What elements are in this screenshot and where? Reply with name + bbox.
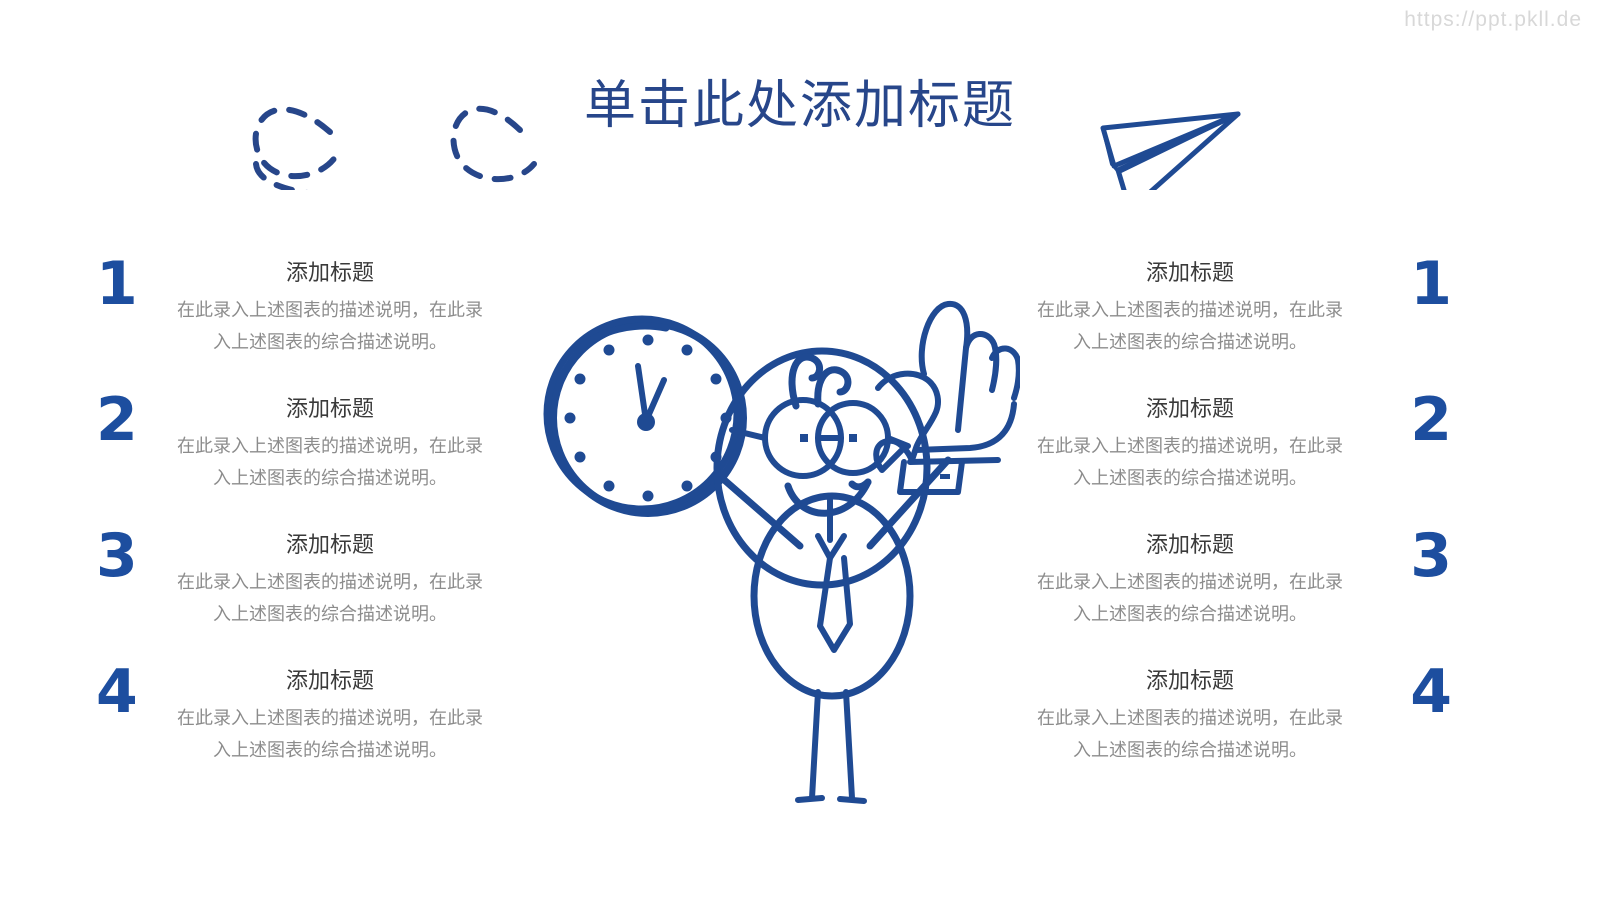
item-body: 在此录入上述图表的描述说明，在此录入上述图表的综合描述说明。 [170, 702, 490, 766]
page-title: 单击此处添加标题 [0, 74, 1600, 138]
necktie-icon [818, 536, 850, 650]
item-number: 4 [96, 662, 138, 722]
wall-clock-icon [547, 319, 743, 513]
item-text-block: 添加标题 在此录入上述图表的描述说明，在此录入上述图表的综合描述说明。 [170, 394, 490, 494]
item-number: 1 [1410, 254, 1452, 314]
item-number: 2 [1410, 390, 1452, 450]
item-heading: 添加标题 [170, 394, 490, 424]
item-body: 在此录入上述图表的描述说明，在此录入上述图表的综合描述说明。 [1030, 702, 1350, 766]
item-number: 3 [96, 526, 138, 586]
item-text-block: 添加标题 在此录入上述图表的描述说明，在此录入上述图表的综合描述说明。 [170, 666, 490, 766]
slide-header: 单击此处添加标题 [0, 60, 1600, 190]
item-heading: 添加标题 [170, 530, 490, 560]
list-item[interactable]: 2 添加标题 在此录入上述图表的描述说明，在此录入上述图表的综合描述说明。 [82, 394, 502, 530]
item-body: 在此录入上述图表的描述说明，在此录入上述图表的综合描述说明。 [170, 566, 490, 630]
item-text-block: 添加标题 在此录入上述图表的描述说明，在此录入上述图表的综合描述说明。 [1030, 258, 1350, 358]
list-item[interactable]: 4 添加标题 在此录入上述图表的描述说明，在此录入上述图表的综合描述说明。 [82, 666, 502, 802]
item-text-block: 添加标题 在此录入上述图表的描述说明，在此录入上述图表的综合描述说明。 [170, 530, 490, 630]
person-head-icon [717, 351, 927, 585]
item-body: 在此录入上述图表的描述说明，在此录入上述图表的综合描述说明。 [1030, 294, 1350, 358]
list-item[interactable]: 3 添加标题 在此录入上述图表的描述说明，在此录入上述图表的综合描述说明。 [1020, 530, 1460, 666]
item-number: 1 [96, 254, 138, 314]
businessman-holding-clock-illustration [500, 278, 1020, 808]
item-heading: 添加标题 [170, 666, 490, 696]
item-body: 在此录入上述图表的描述说明，在此录入上述图表的综合描述说明。 [1030, 430, 1350, 494]
pointing-hand-icon [876, 304, 1019, 492]
list-item[interactable]: 1 添加标题 在此录入上述图表的描述说明，在此录入上述图表的综合描述说明。 [82, 258, 502, 394]
item-number: 3 [1410, 526, 1452, 586]
item-heading: 添加标题 [170, 258, 490, 288]
list-item[interactable]: 4 添加标题 在此录入上述图表的描述说明，在此录入上述图表的综合描述说明。 [1020, 666, 1460, 802]
item-text-block: 添加标题 在此录入上述图表的描述说明，在此录入上述图表的综合描述说明。 [1030, 666, 1350, 766]
item-body: 在此录入上述图表的描述说明，在此录入上述图表的综合描述说明。 [170, 294, 490, 358]
item-heading: 添加标题 [1030, 666, 1350, 696]
item-number: 4 [1410, 662, 1452, 722]
item-heading: 添加标题 [1030, 258, 1350, 288]
item-body: 在此录入上述图表的描述说明，在此录入上述图表的综合描述说明。 [170, 430, 490, 494]
person-legs [798, 692, 864, 801]
left-column: 1 添加标题 在此录入上述图表的描述说明，在此录入上述图表的综合描述说明。 2 … [82, 258, 502, 802]
item-number: 2 [96, 390, 138, 450]
list-item[interactable]: 3 添加标题 在此录入上述图表的描述说明，在此录入上述图表的综合描述说明。 [82, 530, 502, 666]
watermark: https://ppt.pkll.de [1404, 8, 1582, 32]
item-text-block: 添加标题 在此录入上述图表的描述说明，在此录入上述图表的综合描述说明。 [170, 258, 490, 358]
list-item[interactable]: 1 添加标题 在此录入上述图表的描述说明，在此录入上述图表的综合描述说明。 [1020, 258, 1460, 394]
item-text-block: 添加标题 在此录入上述图表的描述说明，在此录入上述图表的综合描述说明。 [1030, 394, 1350, 494]
list-item[interactable]: 2 添加标题 在此录入上述图表的描述说明，在此录入上述图表的综合描述说明。 [1020, 394, 1460, 530]
item-heading: 添加标题 [1030, 394, 1350, 424]
item-body: 在此录入上述图表的描述说明，在此录入上述图表的综合描述说明。 [1030, 566, 1350, 630]
item-text-block: 添加标题 在此录入上述图表的描述说明，在此录入上述图表的综合描述说明。 [1030, 530, 1350, 630]
right-column: 1 添加标题 在此录入上述图表的描述说明，在此录入上述图表的综合描述说明。 2 … [1020, 258, 1460, 802]
item-heading: 添加标题 [1030, 530, 1350, 560]
